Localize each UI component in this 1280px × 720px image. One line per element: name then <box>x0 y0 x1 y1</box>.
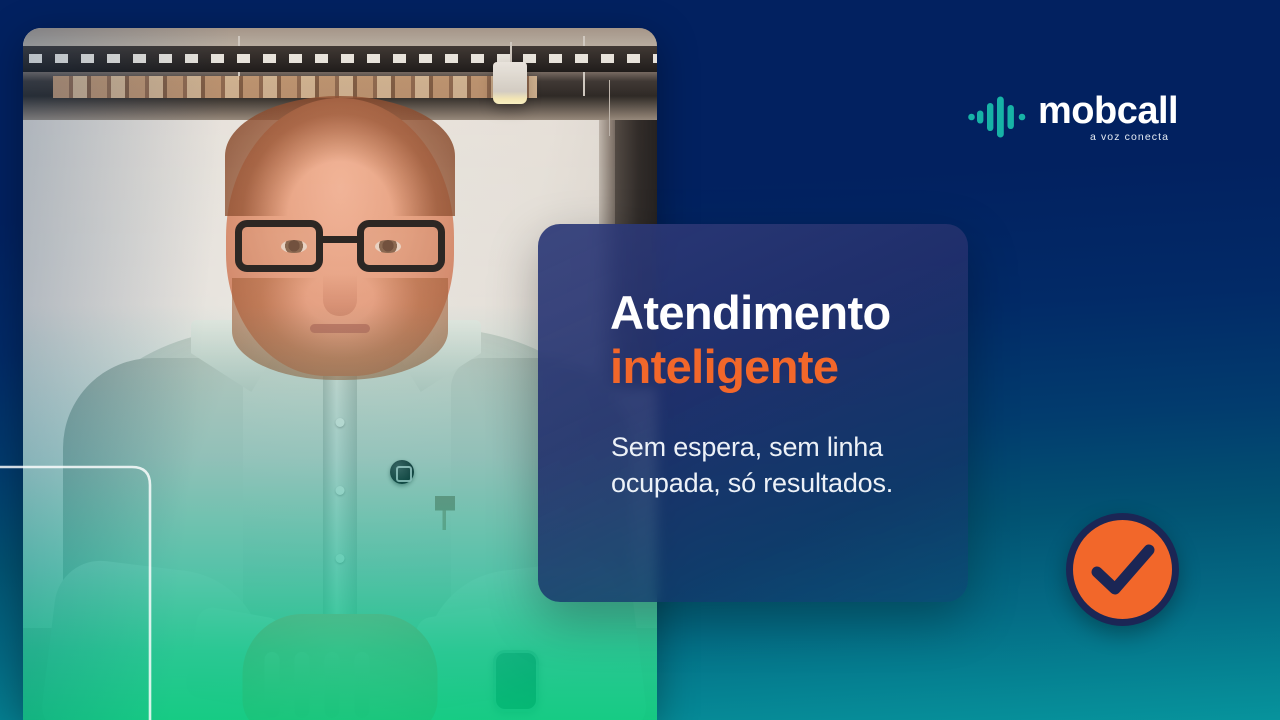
subheadline-line-1: Sem espera, sem linha <box>611 430 1031 466</box>
brand-logo: mobcall a voz conecta <box>968 86 1174 148</box>
subheadline-block: Sem espera, sem linha ocupada, só result… <box>611 430 1031 502</box>
headline-line-1: Atendimento <box>610 286 1010 340</box>
check-icon <box>1091 542 1155 598</box>
brand-tagline: a voz conecta <box>1090 131 1169 143</box>
audio-waveform-icon <box>968 95 1030 139</box>
promo-banner: Atendimento inteligente Sem espera, sem … <box>0 0 1280 720</box>
subheadline-line-2: ocupada, só resultados. <box>611 466 1031 502</box>
headline-line-2: inteligente <box>610 340 1010 394</box>
check-badge <box>1066 513 1179 626</box>
message-card: Atendimento inteligente Sem espera, sem … <box>538 224 968 602</box>
brand-name: mobcall <box>1038 90 1178 133</box>
headline-block: Atendimento inteligente <box>610 286 1010 393</box>
